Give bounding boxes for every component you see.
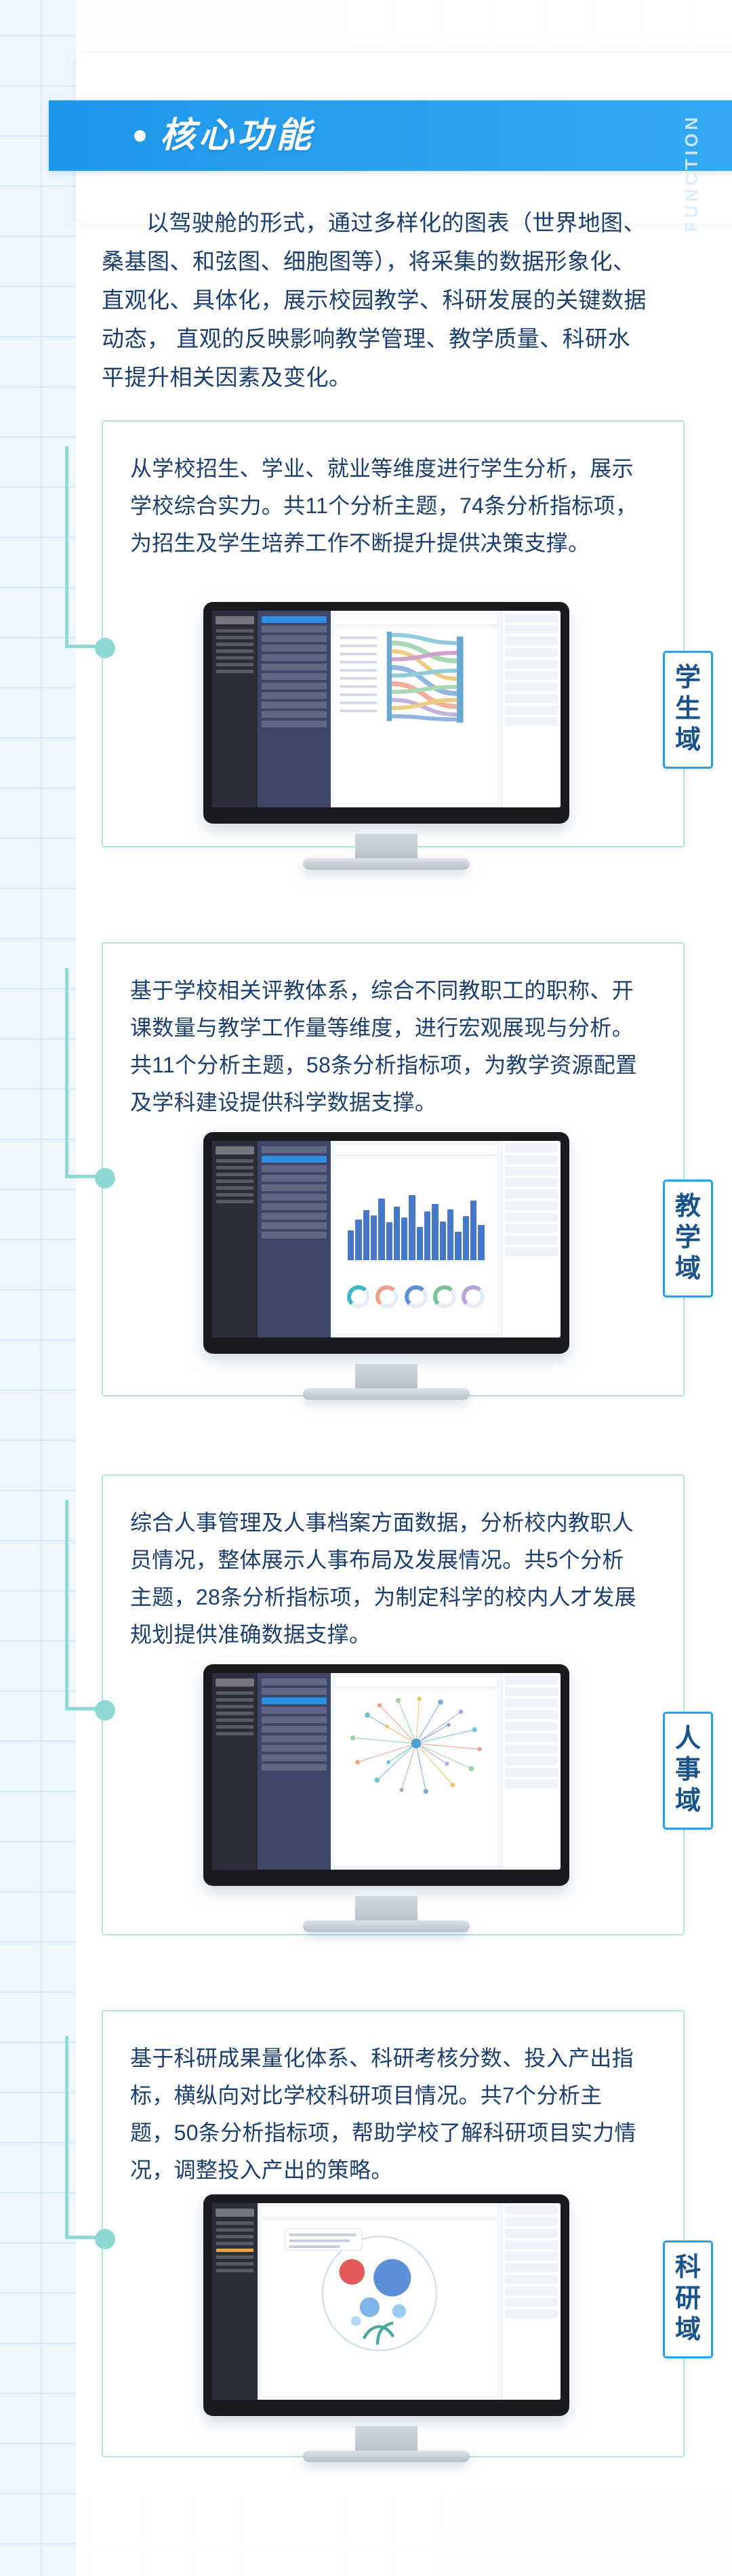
monitor-stand-neck bbox=[355, 2426, 418, 2453]
nav-item[interactable] bbox=[262, 635, 327, 642]
monitor-screen bbox=[212, 611, 561, 807]
domain-tab-char: 域 bbox=[665, 2314, 711, 2346]
monitor-stand-base bbox=[303, 2451, 470, 2462]
right-panel-item[interactable] bbox=[505, 2298, 558, 2307]
nav-item[interactable] bbox=[262, 1232, 327, 1239]
right-panel-item[interactable] bbox=[505, 648, 558, 657]
right-panel-item[interactable] bbox=[505, 1699, 558, 1708]
donut-chart-icon bbox=[347, 1285, 370, 1308]
right-panel-item[interactable] bbox=[505, 1710, 558, 1719]
right-panel-item[interactable] bbox=[505, 2206, 558, 2215]
donut-chart-icon bbox=[405, 1285, 428, 1308]
donut-chart-icon bbox=[375, 1285, 399, 1308]
right-panel-item[interactable] bbox=[505, 1733, 558, 1742]
dashboard-topbar bbox=[335, 1145, 497, 1154]
right-panel-item[interactable] bbox=[505, 637, 558, 645]
header-banner bbox=[49, 100, 732, 171]
right-panel-item[interactable] bbox=[505, 2229, 558, 2238]
dashboard-right-panel bbox=[502, 1673, 561, 1870]
domain-tab-char: 学 bbox=[665, 662, 711, 693]
nav-item[interactable] bbox=[262, 721, 327, 727]
monitor-stand-base bbox=[303, 1920, 470, 1932]
section-connector-dot bbox=[95, 1700, 115, 1720]
right-panel-item[interactable] bbox=[505, 1247, 558, 1256]
sidebar-item[interactable] bbox=[216, 1698, 253, 1702]
dashboard-sidebar bbox=[212, 1673, 258, 1870]
sidebar-item[interactable] bbox=[216, 663, 253, 666]
section-connector bbox=[65, 1500, 104, 1710]
header-bullet-icon bbox=[134, 130, 146, 142]
sidebar-item[interactable] bbox=[216, 649, 253, 653]
dashboard-chart-network bbox=[335, 1691, 497, 1866]
monitor-mock-research: 智慧驾驶舱 首页 / 科研项目 / 项目概况 主要科研项目分布 bbox=[203, 2194, 569, 2416]
nav-item[interactable] bbox=[262, 1764, 327, 1771]
right-panel-item[interactable] bbox=[505, 683, 558, 691]
dashboard-topbar bbox=[262, 2207, 497, 2217]
sidebar-item[interactable] bbox=[216, 2235, 253, 2238]
monitor-mock-personnel: 智慧驾驶舱 首页 / 人事 / 人员结构 教职工关系网络图 bbox=[203, 1664, 569, 1886]
section-description: 基于科研成果量化体系、科研考核分数、投入产出指标，横纵向对比学校科研项目情况。共… bbox=[130, 2040, 645, 2189]
nav-item[interactable] bbox=[262, 1735, 327, 1742]
dashboard-chart-bubbles bbox=[262, 2221, 497, 2396]
right-panel-item[interactable] bbox=[505, 1213, 558, 1222]
dashboard-logo bbox=[216, 616, 254, 624]
monitor-stand-base bbox=[303, 1388, 470, 1400]
sidebar-item[interactable] bbox=[216, 1159, 253, 1163]
right-panel-item[interactable] bbox=[505, 1676, 558, 1685]
right-panel-item[interactable] bbox=[505, 671, 558, 680]
nav-item[interactable] bbox=[262, 1745, 327, 1752]
section-connector bbox=[65, 968, 104, 1178]
right-panel-item[interactable] bbox=[505, 1190, 558, 1199]
sidebar-item[interactable] bbox=[216, 2269, 253, 2272]
domain-tab-char: 域 bbox=[665, 1786, 711, 1817]
nav-item[interactable] bbox=[262, 1716, 327, 1723]
section-description: 从学校招生、学业、就业等维度进行学生分析，展示学校综合实力。共11个分析主题，7… bbox=[130, 450, 645, 562]
monitor-stand-neck bbox=[355, 834, 418, 861]
nav-item[interactable] bbox=[262, 1222, 327, 1229]
monitor-bezel bbox=[203, 602, 569, 824]
domain-tab-teaching[interactable]: 教 学 域 bbox=[663, 1180, 713, 1297]
right-panel-item[interactable] bbox=[505, 2310, 558, 2318]
nav-item[interactable] bbox=[262, 702, 327, 708]
dashboard-sidebar bbox=[212, 611, 258, 807]
section-connector-dot bbox=[95, 2229, 115, 2249]
monitor-mock-teaching: 智慧驾驶舱 首页 / 教学 / 教学工作量 教师教学工作量统计 bbox=[203, 1132, 569, 1354]
dashboard-sidebar bbox=[212, 2203, 258, 2400]
section-connector bbox=[65, 2036, 104, 2239]
domain-tab-char: 事 bbox=[665, 1754, 711, 1786]
sidebar-item[interactable] bbox=[216, 1200, 253, 1203]
sidebar-item[interactable] bbox=[216, 1180, 253, 1183]
sidebar-item[interactable] bbox=[216, 2262, 253, 2266]
dashboard-logo bbox=[216, 2209, 254, 2217]
nav-item[interactable] bbox=[262, 711, 327, 718]
sidebar-item[interactable] bbox=[216, 1193, 253, 1196]
sidebar-item[interactable] bbox=[216, 1732, 253, 1735]
bar-chart-icon bbox=[348, 1190, 485, 1260]
dashboard-logo bbox=[216, 1146, 254, 1154]
dashboard-nav bbox=[258, 611, 331, 807]
sidebar-item-active[interactable] bbox=[216, 2249, 253, 2252]
sidebar-item[interactable] bbox=[216, 1725, 253, 1729]
nav-item[interactable] bbox=[262, 626, 327, 632]
monitor-bezel bbox=[203, 2194, 569, 2416]
right-panel-item[interactable] bbox=[505, 717, 558, 726]
nav-item-active[interactable] bbox=[262, 1156, 327, 1163]
section-description: 综合人事管理及人事档案方面数据，分析校内教职人员情况，整体展示人事布局及发展情况… bbox=[130, 1504, 645, 1653]
sidebar-item[interactable] bbox=[216, 1705, 253, 1708]
dashboard-main bbox=[331, 1141, 502, 1337]
nav-item[interactable] bbox=[262, 683, 327, 689]
right-panel-item[interactable] bbox=[505, 1745, 558, 1754]
nav-item[interactable] bbox=[262, 1203, 327, 1210]
domain-tab-char: 人 bbox=[665, 1723, 711, 1754]
right-panel-item[interactable] bbox=[505, 660, 558, 668]
right-panel-item[interactable] bbox=[505, 2217, 558, 2226]
sidebar-item[interactable] bbox=[216, 1186, 253, 1190]
page-title: 核心功能 bbox=[160, 108, 314, 163]
nav-item-active[interactable] bbox=[262, 616, 327, 623]
infographic-page: 核心功能 FUNCTION 以驾驶舱的形式，通过多样化的图表（世界地图、桑基图、… bbox=[0, 0, 732, 2576]
section-connector-dot bbox=[95, 638, 115, 658]
nav-item[interactable] bbox=[262, 1707, 327, 1714]
nav-item[interactable] bbox=[262, 645, 327, 651]
sankey-diagram-icon bbox=[335, 628, 497, 726]
sidebar-item[interactable] bbox=[216, 1712, 253, 1715]
network-graph-icon bbox=[335, 1691, 497, 1796]
nav-item[interactable] bbox=[262, 1754, 327, 1761]
header: 核心功能 FUNCTION bbox=[0, 81, 732, 190]
domain-tab-student[interactable]: 学 生 域 bbox=[663, 651, 713, 769]
right-panel-item[interactable] bbox=[505, 1756, 558, 1765]
dashboard-topbar bbox=[335, 1677, 497, 1687]
right-panel-item[interactable] bbox=[505, 1687, 558, 1696]
right-panel-item[interactable] bbox=[505, 1722, 558, 1731]
dashboard-main bbox=[258, 2203, 502, 2400]
dashboard-sidebar bbox=[212, 1141, 258, 1337]
dashboard-chart-sankey bbox=[335, 628, 497, 803]
sidebar-item[interactable] bbox=[216, 670, 253, 673]
dashboard-right-panel bbox=[502, 1141, 561, 1337]
right-panel-item[interactable] bbox=[505, 1155, 558, 1164]
dashboard-nav bbox=[258, 1673, 331, 1870]
section-description: 基于学校相关评教体系，综合不同教职工的职称、开课数量与教学工作量等维度，进行宏观… bbox=[130, 972, 645, 1121]
sidebar-item[interactable] bbox=[216, 643, 253, 646]
nav-item[interactable] bbox=[262, 654, 327, 661]
donut-chart-icon bbox=[462, 1285, 485, 1308]
monitor-stand-base bbox=[303, 858, 470, 870]
sidebar-item[interactable] bbox=[216, 1173, 253, 1176]
nav-item[interactable] bbox=[262, 1213, 327, 1220]
sidebar-item[interactable] bbox=[216, 636, 253, 639]
domain-tab-char: 研 bbox=[665, 2283, 711, 2314]
monitor-bezel bbox=[203, 1132, 569, 1354]
domain-tab-char: 域 bbox=[665, 725, 711, 756]
domain-tab-char: 域 bbox=[665, 1253, 711, 1285]
nav-item[interactable] bbox=[262, 1175, 327, 1182]
sidebar-item[interactable] bbox=[216, 1691, 253, 1695]
dashboard-chart-bars bbox=[335, 1159, 497, 1333]
dashboard-main bbox=[331, 1673, 502, 1870]
nav-item[interactable] bbox=[262, 664, 327, 670]
header-vertical-label: FUNCTION bbox=[681, 114, 702, 232]
sidebar-item[interactable] bbox=[216, 2255, 253, 2259]
monitor-screen bbox=[212, 2203, 561, 2400]
right-panel-item[interactable] bbox=[505, 2287, 558, 2295]
dashboard-nav bbox=[258, 1141, 331, 1337]
right-panel-item[interactable] bbox=[505, 1779, 558, 1788]
nav-item[interactable] bbox=[262, 1194, 327, 1201]
sidebar-item[interactable] bbox=[216, 1166, 253, 1169]
dashboard-main bbox=[331, 611, 502, 807]
domain-tab-char: 生 bbox=[665, 693, 711, 725]
right-panel-item[interactable] bbox=[505, 1224, 558, 1233]
section-connector-dot bbox=[95, 1168, 115, 1188]
bubble-chart-icon bbox=[262, 2221, 497, 2358]
nav-item[interactable] bbox=[262, 1678, 327, 1685]
donut-chart-icon bbox=[433, 1285, 456, 1308]
monitor-stand-neck bbox=[355, 1364, 418, 1391]
monitor-screen bbox=[212, 1141, 561, 1337]
sidebar-item[interactable] bbox=[216, 629, 253, 632]
intro-paragraph: 以驾驶舱的形式，通过多样化的图表（世界地图、桑基图、和弦图、细胞图等），将采集的… bbox=[102, 203, 651, 397]
nav-item[interactable] bbox=[262, 1165, 327, 1172]
dashboard-topbar bbox=[335, 615, 497, 624]
right-panel-item[interactable] bbox=[505, 1144, 558, 1152]
nav-item[interactable] bbox=[262, 673, 327, 680]
monitor-mock-student: 智慧驾驶舱 首页 / 学生 / 在校生概况 在学历在校生分布图 bbox=[203, 602, 569, 824]
right-panel-item[interactable] bbox=[505, 1236, 558, 1245]
right-panel-item[interactable] bbox=[505, 694, 558, 703]
monitor-screen bbox=[212, 1673, 561, 1870]
right-panel-item[interactable] bbox=[505, 2275, 558, 2284]
nav-item[interactable] bbox=[262, 692, 327, 699]
monitor-bezel bbox=[203, 1664, 569, 1886]
sidebar-item[interactable] bbox=[216, 2228, 253, 2232]
sidebar-item[interactable] bbox=[216, 1718, 253, 1722]
dashboard-right-panel bbox=[502, 611, 561, 807]
dashboard-right-panel bbox=[502, 2203, 561, 2400]
right-panel-item[interactable] bbox=[505, 1201, 558, 1210]
monitor-stand-neck bbox=[355, 1896, 418, 1923]
right-panel-item[interactable] bbox=[505, 2240, 558, 2249]
domain-tab-char: 学 bbox=[665, 1222, 711, 1253]
nav-item[interactable] bbox=[262, 1146, 327, 1153]
sidebar-item[interactable] bbox=[216, 2242, 253, 2245]
nav-item[interactable] bbox=[262, 1184, 327, 1191]
nav-item[interactable] bbox=[262, 1688, 327, 1695]
domain-tab-research[interactable]: 科 研 域 bbox=[663, 2240, 713, 2358]
dashboard-logo bbox=[216, 1678, 254, 1687]
donut-chart-group-icon bbox=[344, 1270, 487, 1323]
domain-tab-char: 教 bbox=[665, 1191, 711, 1222]
domain-tab-char: 科 bbox=[665, 2252, 711, 2283]
nav-item-active[interactable] bbox=[262, 1697, 327, 1704]
section-connector bbox=[65, 446, 104, 648]
nav-item[interactable] bbox=[262, 1726, 327, 1733]
right-panel-item[interactable] bbox=[505, 625, 558, 634]
right-panel-item[interactable] bbox=[505, 2252, 558, 2261]
right-panel-item[interactable] bbox=[505, 613, 558, 622]
right-panel-item[interactable] bbox=[505, 1167, 558, 1175]
sidebar-item[interactable] bbox=[216, 2221, 253, 2225]
sidebar-item[interactable] bbox=[216, 656, 253, 660]
right-panel-item[interactable] bbox=[505, 2263, 558, 2272]
right-panel-item[interactable] bbox=[505, 706, 558, 715]
right-panel-item[interactable] bbox=[505, 1178, 558, 1187]
domain-tab-personnel[interactable]: 人 事 域 bbox=[663, 1712, 713, 1830]
right-panel-item[interactable] bbox=[505, 1768, 558, 1777]
